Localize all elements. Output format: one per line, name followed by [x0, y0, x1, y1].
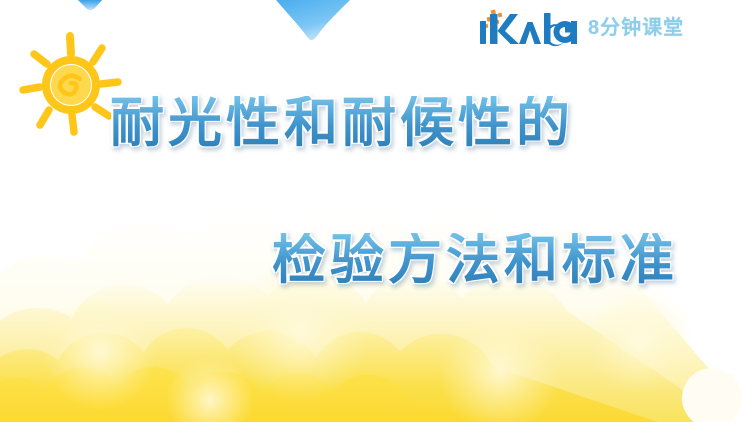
blue-drip-large-icon: [272, 0, 354, 44]
brand-logo: 8分钟课堂: [478, 6, 684, 50]
logo-subtitle: 8分钟课堂: [588, 18, 684, 38]
slide-canvas: 8分钟课堂: [0, 0, 750, 422]
page-title-line-1: 耐光性和耐候性的: [110, 96, 574, 150]
page-title-line-2: 检验方法和标准: [272, 233, 678, 287]
ikala-logo-icon: [478, 8, 582, 48]
blue-drip-small-icon: [76, 0, 104, 14]
